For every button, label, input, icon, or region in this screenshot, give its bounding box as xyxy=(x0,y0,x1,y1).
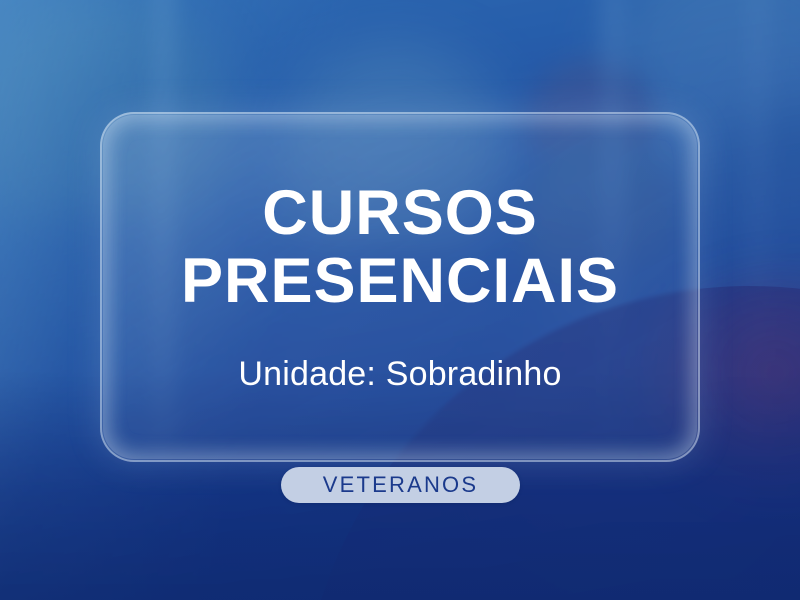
page-title: Cursos Presenciais xyxy=(181,180,619,315)
status-badge-label: VETERANOS xyxy=(323,472,479,498)
status-badge[interactable]: VETERANOS xyxy=(281,467,520,503)
promo-banner: Cursos Presenciais Unidade: Sobradinho V… xyxy=(0,0,800,600)
unit-subtitle: Unidade: Sobradinho xyxy=(238,355,561,394)
glass-card: Cursos Presenciais Unidade: Sobradinho xyxy=(100,112,700,462)
